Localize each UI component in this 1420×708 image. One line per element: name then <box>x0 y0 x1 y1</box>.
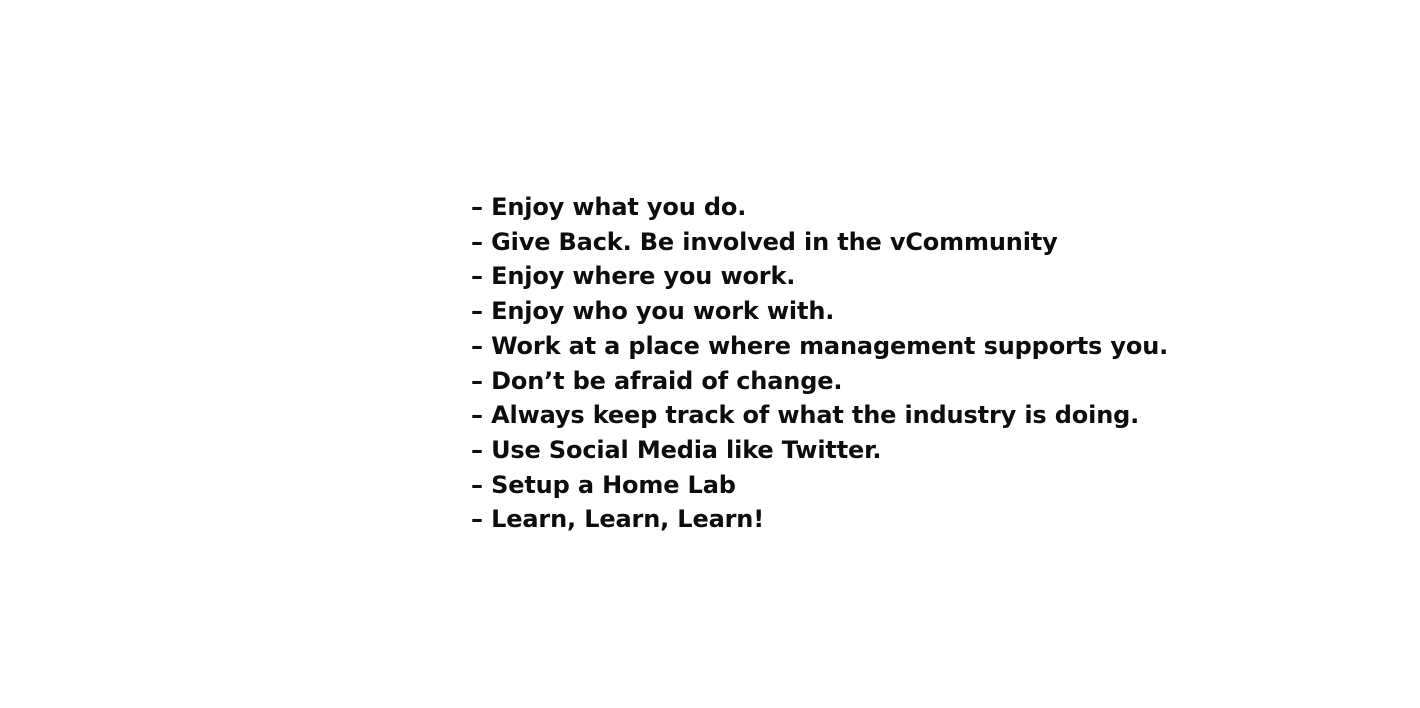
bullet-list: – Enjoy what you do. – Give Back. Be inv… <box>471 190 1371 537</box>
list-item-label: Use Social Media like Twitter. <box>491 436 881 464</box>
list-item-label: Don’t be afraid of change. <box>491 367 842 395</box>
list-item-label: Enjoy what you do. <box>491 193 746 221</box>
list-item-label: Work at a place where management support… <box>491 332 1168 360</box>
list-item-label: Enjoy where you work. <box>491 262 795 290</box>
list-item: – Give Back. Be involved in the vCommuni… <box>471 225 1371 260</box>
list-item-label: Enjoy who you work with. <box>491 297 834 325</box>
bullet-marker: – <box>471 332 483 360</box>
list-item-label: Always keep track of what the industry i… <box>491 401 1139 429</box>
bullet-marker: – <box>471 297 483 325</box>
list-item: – Work at a place where management suppo… <box>471 329 1371 364</box>
bullet-marker: – <box>471 228 483 256</box>
bullet-marker: – <box>471 401 483 429</box>
list-item: – Always keep track of what the industry… <box>471 398 1371 433</box>
slide-canvas: – Enjoy what you do. – Give Back. Be inv… <box>0 0 1420 708</box>
list-item: – Don’t be afraid of change. <box>471 364 1371 399</box>
bullet-marker: – <box>471 367 483 395</box>
bullet-marker: – <box>471 505 483 533</box>
list-item: – Enjoy where you work. <box>471 259 1371 294</box>
list-item: – Enjoy who you work with. <box>471 294 1371 329</box>
list-item-label: Give Back. Be involved in the vCommunity <box>491 228 1058 256</box>
list-item: – Setup a Home Lab <box>471 468 1371 503</box>
list-item: – Learn, Learn, Learn! <box>471 502 1371 537</box>
bullet-marker: – <box>471 262 483 290</box>
bullet-marker: – <box>471 471 483 499</box>
list-item-label: Setup a Home Lab <box>491 471 736 499</box>
list-item: – Use Social Media like Twitter. <box>471 433 1371 468</box>
list-item-label: Learn, Learn, Learn! <box>491 505 764 533</box>
bullet-marker: – <box>471 436 483 464</box>
list-item: – Enjoy what you do. <box>471 190 1371 225</box>
bullet-marker: – <box>471 193 483 221</box>
